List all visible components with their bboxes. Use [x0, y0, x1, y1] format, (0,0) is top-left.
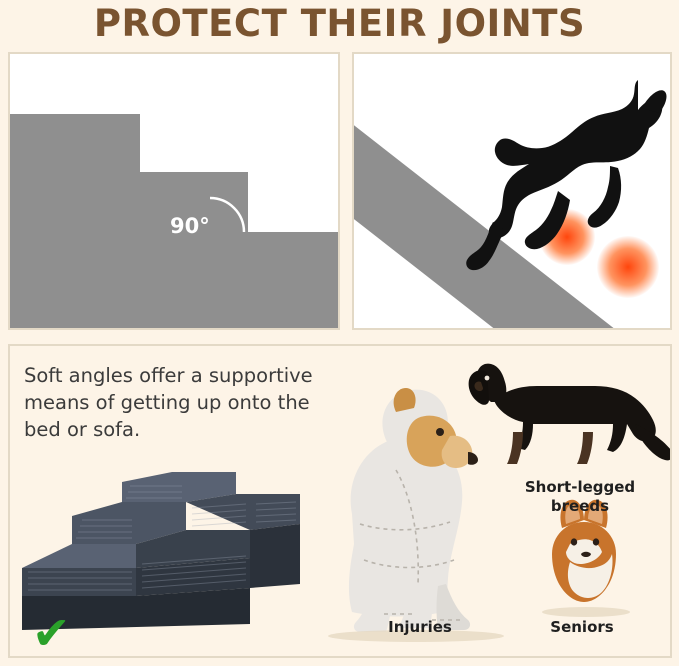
- dog-climbing-silhouette: [442, 80, 672, 310]
- caption-short-legged-breeds: Short-legged breeds: [510, 478, 650, 516]
- page-title: PROTECT THEIR JOINTS: [0, 2, 679, 46]
- caption-seniors: Seniors: [522, 618, 642, 637]
- x-mark-stairs: ✖: [20, 326, 57, 330]
- right-angle-arc-icon: [206, 194, 250, 238]
- hard-stairs-panel: 90° ✖: [8, 52, 340, 330]
- check-mark-solution: ✔: [32, 610, 71, 656]
- x-mark-ramp: ✖: [378, 326, 415, 330]
- steep-ramp-panel: ✖: [352, 52, 672, 330]
- stair-step-lower: [10, 232, 338, 328]
- soft-angle-steps-panel: Soft angles offer a supportive means of …: [8, 344, 672, 658]
- angle-label: 90°: [170, 214, 210, 238]
- infographic-page: PROTECT THEIR JOINTS 90° ✖ ✖ Soft angles…: [0, 0, 679, 666]
- solution-description: Soft angles offer a supportive means of …: [24, 362, 324, 443]
- stair-step-upper: [10, 114, 140, 194]
- caption-injuries: Injuries: [350, 618, 490, 637]
- dachshund-image: [465, 354, 672, 484]
